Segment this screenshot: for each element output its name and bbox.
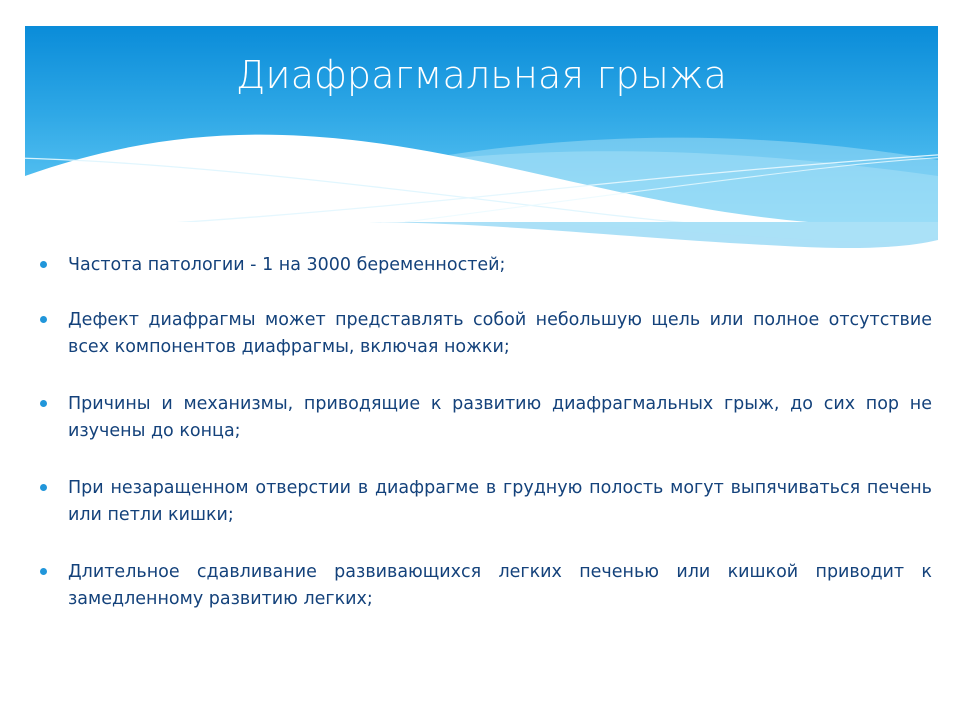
bullet-dot-icon — [40, 400, 47, 407]
list-item-text: Длительное сдавливание развивающихся лег… — [68, 559, 932, 613]
list-item: При незаращенном отверстии в диафрагме в… — [0, 475, 960, 529]
page-title: Диафрагмальная грыжа — [25, 52, 938, 98]
list-item: Причины и механизмы, приводящие к развит… — [0, 391, 960, 445]
bullet-dot-icon — [40, 568, 47, 575]
list-item-text: Причины и механизмы, приводящие к развит… — [68, 391, 932, 445]
list-item-text: При незаращенном отверстии в диафрагме в… — [68, 475, 932, 529]
bullet-dot-icon — [40, 484, 47, 491]
slide: Диафрагмальная грыжа Частота патологии -… — [0, 0, 960, 720]
bullet-dot-icon — [40, 261, 47, 268]
list-item: Дефект диафрагмы может представлять собо… — [0, 307, 960, 361]
list-item-text: Частота патологии - 1 на 3000 беременнос… — [68, 252, 932, 279]
list-item-text: Дефект диафрагмы может представлять собо… — [68, 307, 932, 361]
list-item: Частота патологии - 1 на 3000 беременнос… — [0, 252, 960, 279]
list-item: Длительное сдавливание развивающихся лег… — [0, 559, 960, 613]
bullet-list: Частота патологии - 1 на 3000 беременнос… — [0, 252, 960, 641]
banner-wave-overflow — [355, 222, 938, 248]
bullet-dot-icon — [40, 316, 47, 323]
